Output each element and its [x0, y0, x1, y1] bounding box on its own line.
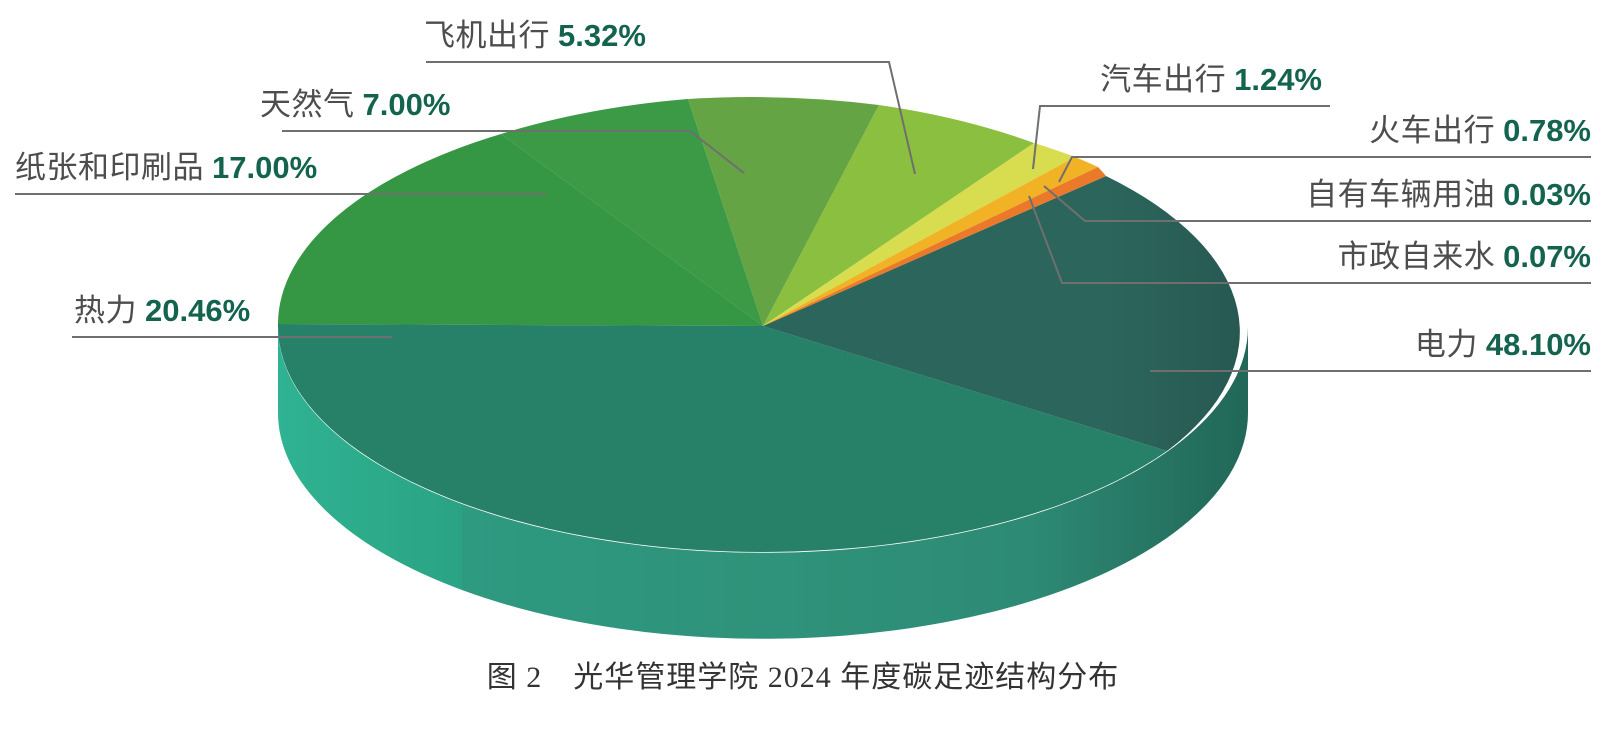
callout-electricity-name: 电力	[1415, 327, 1478, 362]
chart-canvas: 飞机出行5.32% 天然气7.00% 纸张和印刷品17.00% 热力20.46%…	[0, 0, 1606, 729]
callout-own-vehicle-fuel-pct: 0.03%	[1503, 177, 1591, 212]
callout-paper-name: 纸张和印刷品	[15, 150, 204, 185]
callout-paper: 纸张和印刷品17.00%	[15, 152, 317, 183]
callout-tap-water: 市政自来水0.07%	[1338, 241, 1591, 272]
callout-car-pct: 1.24%	[1234, 62, 1322, 97]
callout-natural-gas-name: 天然气	[260, 87, 355, 122]
callout-own-vehicle-fuel: 自有车辆用油0.03%	[1306, 179, 1591, 210]
callout-airplane-name: 飞机出行	[424, 18, 550, 53]
callout-train-pct: 0.78%	[1503, 113, 1591, 148]
callout-heat: 热力20.46%	[74, 295, 250, 326]
pie-slices	[278, 97, 1240, 552]
callout-heat-pct: 20.46%	[145, 293, 250, 328]
callout-own-vehicle-fuel-name: 自有车辆用油	[1306, 177, 1495, 212]
callout-car-name: 汽车出行	[1100, 62, 1226, 97]
callout-tap-water-name: 市政自来水	[1338, 239, 1496, 274]
callout-car: 汽车出行1.24%	[1100, 64, 1322, 95]
callout-train-name: 火车出行	[1369, 113, 1495, 148]
callout-natural-gas-pct: 7.00%	[363, 87, 451, 122]
callout-airplane: 飞机出行5.32%	[424, 20, 646, 51]
callout-electricity: 电力48.10%	[1415, 329, 1591, 360]
callout-airplane-pct: 5.32%	[558, 18, 646, 53]
callout-natural-gas: 天然气7.00%	[260, 89, 450, 120]
pie-chart-3d	[0, 0, 1606, 729]
callout-tap-water-pct: 0.07%	[1503, 239, 1591, 274]
callout-paper-pct: 17.00%	[212, 150, 317, 185]
callout-electricity-pct: 48.10%	[1486, 327, 1591, 362]
callout-heat-name: 热力	[74, 293, 137, 328]
figure-caption: 图 2 光华管理学院 2024 年度碳足迹结构分布	[0, 652, 1606, 696]
callout-train: 火车出行0.78%	[1369, 115, 1591, 146]
